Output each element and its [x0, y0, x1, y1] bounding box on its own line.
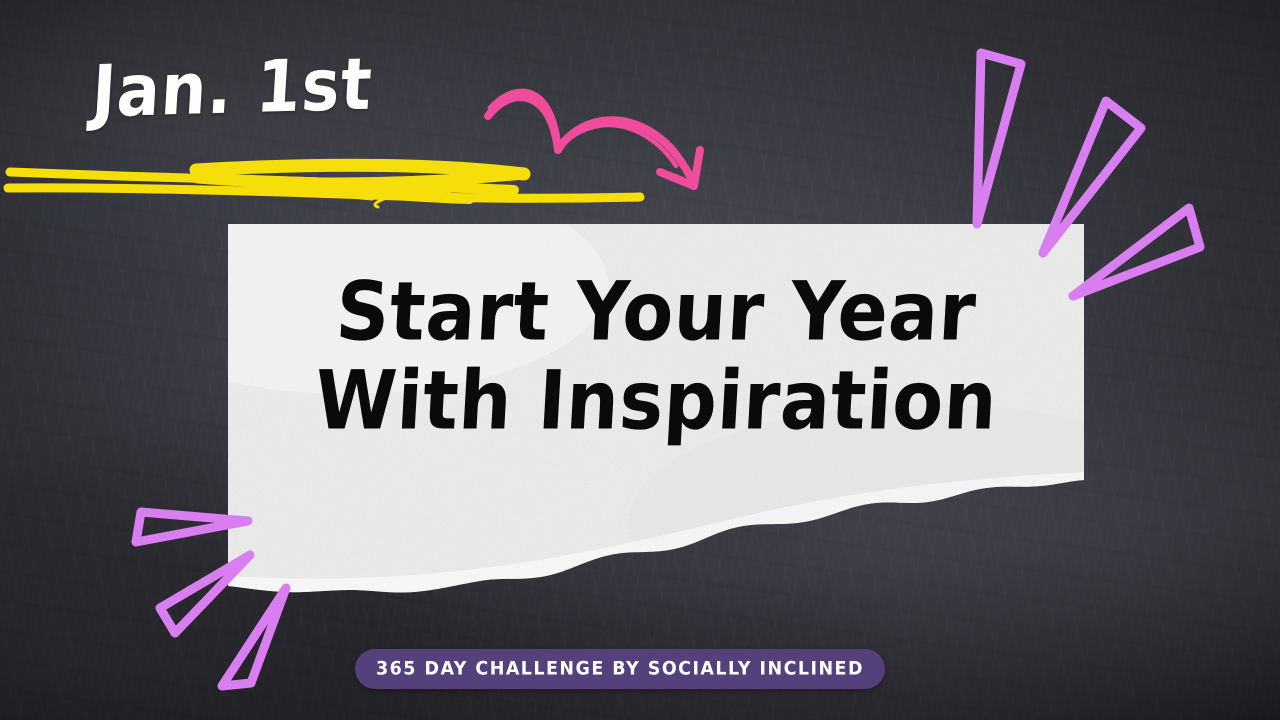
- date-label: Jan. 1st: [90, 44, 375, 135]
- yellow-scribble-underline-hit[interactable]: [8, 158, 528, 208]
- poster-canvas: Start Your Year With Inspiration Jan. 1s…: [0, 0, 1280, 720]
- credit-banner[interactable]: 365 DAY CHALLENGE BY SOCIALLY INCLINED: [355, 649, 885, 689]
- pink-bouncing-arrow-hit[interactable]: [484, 84, 706, 194]
- torn-paper-card: [228, 224, 1084, 594]
- credit-banner-label: 365 DAY CHALLENGE BY SOCIALLY INCLINED: [376, 658, 864, 680]
